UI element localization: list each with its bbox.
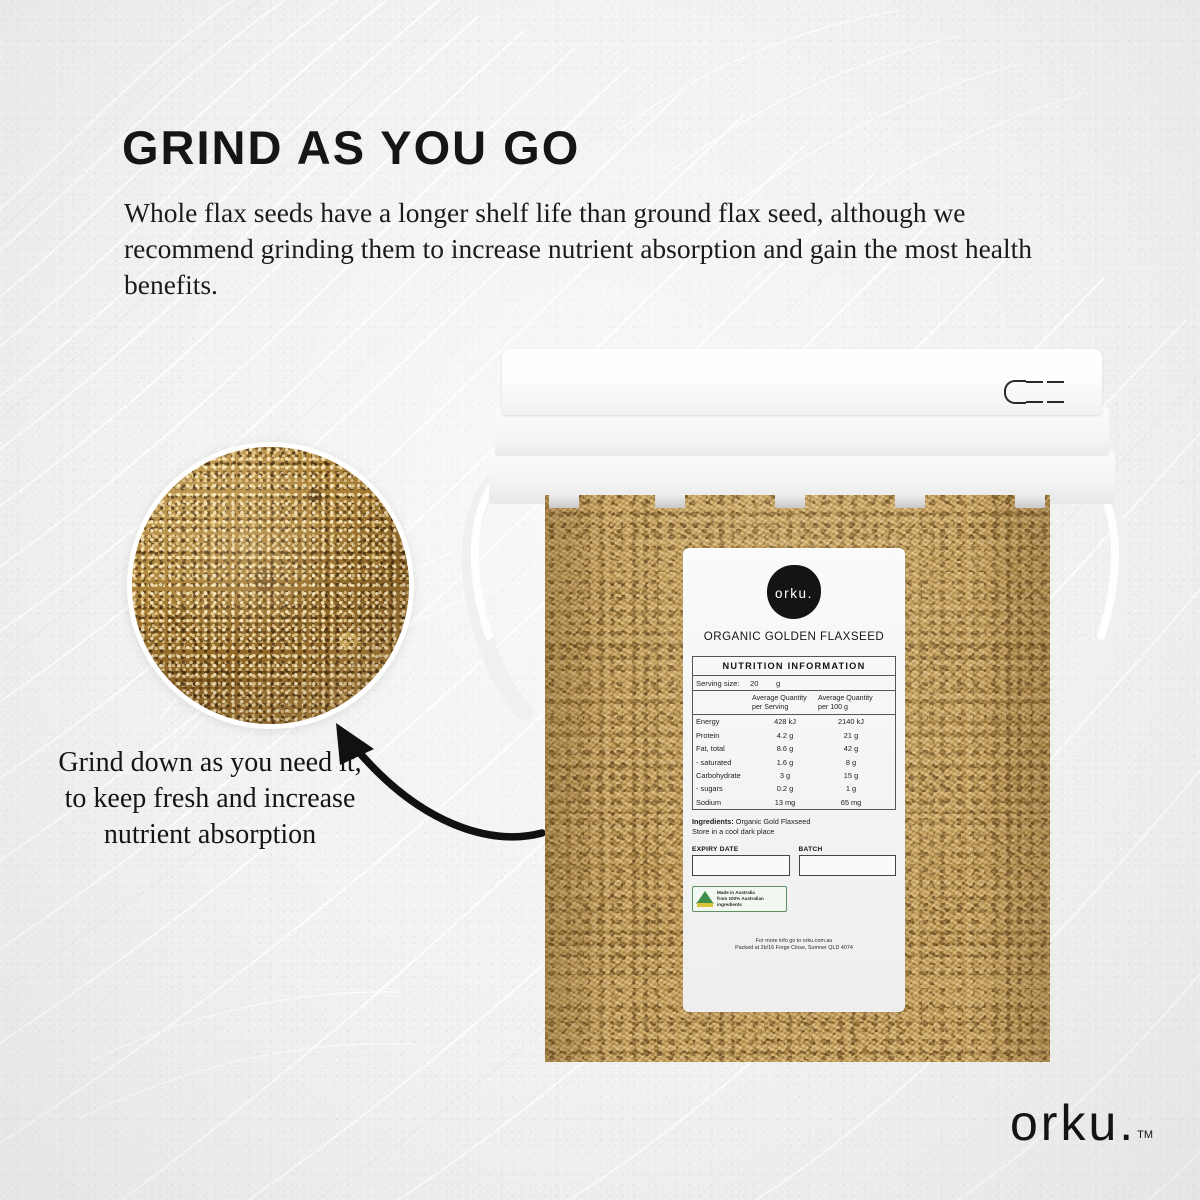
serving-size-unit: g [776, 679, 780, 688]
aus-line-3: ingredients [717, 902, 764, 908]
label-footer: For more info go to orku.com.au Packed a… [692, 938, 896, 953]
nutrition-information-table: NUTRITION INFORMATION Serving size: 20 g… [692, 656, 896, 810]
nutrition-column-headers: Average Quantity per Serving Average Qua… [693, 691, 895, 715]
nutrient-per-100g: 1 g [818, 784, 884, 793]
nutrient-per-serving: 13 mg [752, 798, 818, 807]
nutrition-row: - saturated1.6 g8 g [693, 755, 895, 768]
australian-made-text: Made in Australia from 100% Australian i… [717, 890, 764, 908]
nutrition-row: Fat, total8.6 g42 g [693, 742, 895, 755]
col-header-per-serving: Average Quantity per Serving [752, 694, 818, 711]
nutrient-per-100g: 2140 kJ [818, 717, 884, 726]
expiry-date-box [692, 855, 790, 876]
nutrient-name: Protein [696, 731, 752, 740]
ground-flaxseed-inset [127, 442, 414, 729]
nutrient-per-serving: 3 g [752, 771, 818, 780]
product-name: ORGANIC GOLDEN FLAXSEED [692, 630, 896, 643]
nutrient-per-100g: 8 g [818, 758, 884, 767]
nutrient-per-serving: 8.6 g [752, 744, 818, 753]
nutrient-name: - sugars [696, 784, 752, 793]
product-label: orku. ORGANIC GOLDEN FLAXSEED NUTRITION … [683, 548, 905, 1012]
footer-website: For more info go to orku.com.au [692, 938, 896, 946]
tamper-clip-icon [1004, 380, 1068, 404]
nutrition-row: Carbohydrate3 g15 g [693, 769, 895, 782]
bucket-rim-tabs [545, 495, 1050, 509]
serving-size-label: Serving size: [696, 679, 750, 688]
label-fields: EXPIRY DATE BATCH [692, 846, 896, 876]
col-header-per-100g: Average Quantity per 100 g [818, 694, 884, 711]
batch-field: BATCH [799, 846, 897, 876]
brand-name: orku. [1010, 1095, 1136, 1151]
serving-size-value: 20 [750, 679, 776, 688]
ingredients-label: Ingredients: [692, 817, 734, 826]
orku-label-logo-text: orku. [775, 586, 813, 601]
nutrient-name: Energy [696, 717, 752, 726]
australian-made-badge: Made in Australia from 100% Australian i… [692, 886, 787, 912]
inset-shading [132, 447, 409, 724]
expiry-date-label: EXPIRY DATE [692, 846, 790, 853]
page-title: GRIND AS YOU GO [122, 124, 580, 171]
bucket-lid-top [502, 349, 1102, 415]
brand-tm: TM [1137, 1129, 1153, 1141]
nutrient-per-serving: 0.2 g [752, 784, 818, 793]
product-bucket: orku. ORGANIC GOLDEN FLAXSEED NUTRITION … [455, 340, 1135, 1070]
nutrient-per-100g: 65 mg [818, 798, 884, 807]
brand-logo: orku.TM [1010, 1098, 1152, 1148]
nutrition-row: Sodium13 mg65 mg [693, 796, 895, 809]
aus-line-2: from 100% Australian [717, 896, 764, 902]
nutrient-name: Sodium [696, 798, 752, 807]
batch-label: BATCH [799, 846, 897, 853]
nutrient-per-100g: 42 g [818, 744, 884, 753]
storage-instruction: Store in a cool dark place [692, 827, 774, 836]
poster-canvas: GRIND AS YOU GO Whole flax seeds have a … [0, 0, 1200, 1200]
nutrition-heading: NUTRITION INFORMATION [693, 657, 895, 676]
ingredients-block: Ingredients: Organic Gold Flaxseed Store… [692, 817, 896, 837]
nutrient-per-serving: 428 kJ [752, 717, 818, 726]
nutrition-row: Protein4.2 g21 g [693, 729, 895, 742]
col-header-blank [696, 694, 752, 711]
nutrition-rows: Energy428 kJ2140 kJProtein4.2 g21 gFat, … [693, 715, 895, 809]
ground-flaxseed-photo [132, 447, 409, 724]
batch-box [799, 855, 897, 876]
page-subtitle: Whole flax seeds have a longer shelf lif… [124, 195, 1054, 302]
nutrition-row: - sugars0.2 g1 g [693, 782, 895, 795]
nutrient-per-100g: 21 g [818, 731, 884, 740]
serving-size-row: Serving size: 20 g [693, 676, 895, 691]
bucket-lid-body [495, 408, 1109, 456]
orku-label-logo: orku. [767, 565, 821, 619]
nutrition-row: Energy428 kJ2140 kJ [693, 715, 895, 728]
nutrient-per-serving: 4.2 g [752, 731, 818, 740]
nutrient-name: Carbohydrate [696, 771, 752, 780]
nutrient-name: Fat, total [696, 744, 752, 753]
footer-address: Packed at 2b/16 Forge Close, Sumner QLD … [692, 945, 896, 953]
expiry-date-field: EXPIRY DATE [692, 846, 790, 876]
nutrient-per-serving: 1.6 g [752, 758, 818, 767]
kangaroo-triangle-icon [696, 890, 714, 907]
nutrient-per-100g: 15 g [818, 771, 884, 780]
ingredients-value: Organic Gold Flaxseed [736, 817, 811, 826]
nutrient-name: - saturated [696, 758, 752, 767]
